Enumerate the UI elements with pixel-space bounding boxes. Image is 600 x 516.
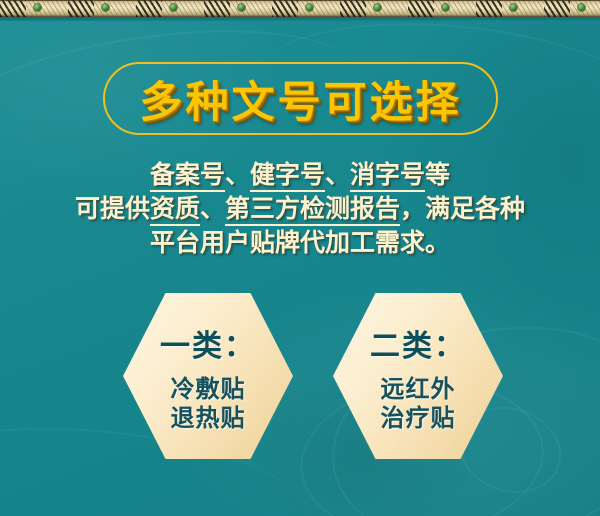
plain-text: 等 [425, 160, 450, 189]
emphasized-term: 消字号 [350, 160, 425, 192]
ornamental-top-border [0, 0, 600, 17]
category-two-items: 远红外治疗贴 [381, 374, 456, 432]
promo-poster: 多种文号可选择 备案号、健字号、消字号等 可提供资质、第三方检测报告，满足各种 … [0, 0, 600, 516]
plain-text: 平台用户贴牌代加工需求。 [150, 228, 450, 257]
border-gem-icon [578, 4, 585, 11]
border-gem-icon [238, 4, 245, 11]
description-line-2: 可提供资质、第三方检测报告，满足各种 [0, 192, 600, 226]
category-two-title: 二类： [370, 321, 466, 365]
category-item: 远红外 [381, 374, 456, 403]
description-block: 备案号、健字号、消字号等 可提供资质、第三方检测报告，满足各种 平台用户贴牌代加… [0, 158, 600, 260]
plain-text: 、 [325, 160, 350, 189]
border-edge-line [0, 0, 600, 1]
emphasized-term: 资质 [150, 194, 200, 226]
border-gem-icon [442, 4, 449, 11]
border-gem-icon [306, 4, 313, 11]
category-item: 冷敷贴 [171, 374, 246, 403]
border-gem-icon [510, 4, 517, 11]
emphasized-term: 健字号 [250, 160, 325, 192]
emphasized-term: 备案号 [150, 160, 225, 192]
border-gem-row [0, 4, 600, 13]
description-line-3: 平台用户贴牌代加工需求。 [0, 226, 600, 260]
page-title: 多种文号可选择 [140, 68, 462, 130]
category-item: 治疗贴 [381, 403, 456, 432]
border-gem-icon [374, 4, 381, 11]
category-item: 退热贴 [171, 403, 246, 432]
category-one-title: 一类： [160, 321, 256, 365]
description-line-1: 备案号、健字号、消字号等 [0, 158, 600, 192]
emphasized-term: 第三方检测报告 [225, 194, 400, 226]
plain-text: 可提供 [75, 194, 150, 223]
plain-text: ，满足各种 [400, 194, 525, 223]
border-gem-icon [34, 4, 41, 11]
plain-text: 、 [200, 194, 225, 223]
border-gem-icon [170, 4, 177, 11]
category-one-items: 冷敷贴退热贴 [171, 374, 246, 432]
title-pill-frame: 多种文号可选择 [103, 62, 498, 135]
border-under-shadow [0, 17, 600, 21]
border-gem-icon [102, 4, 109, 11]
plain-text: 、 [225, 160, 250, 189]
